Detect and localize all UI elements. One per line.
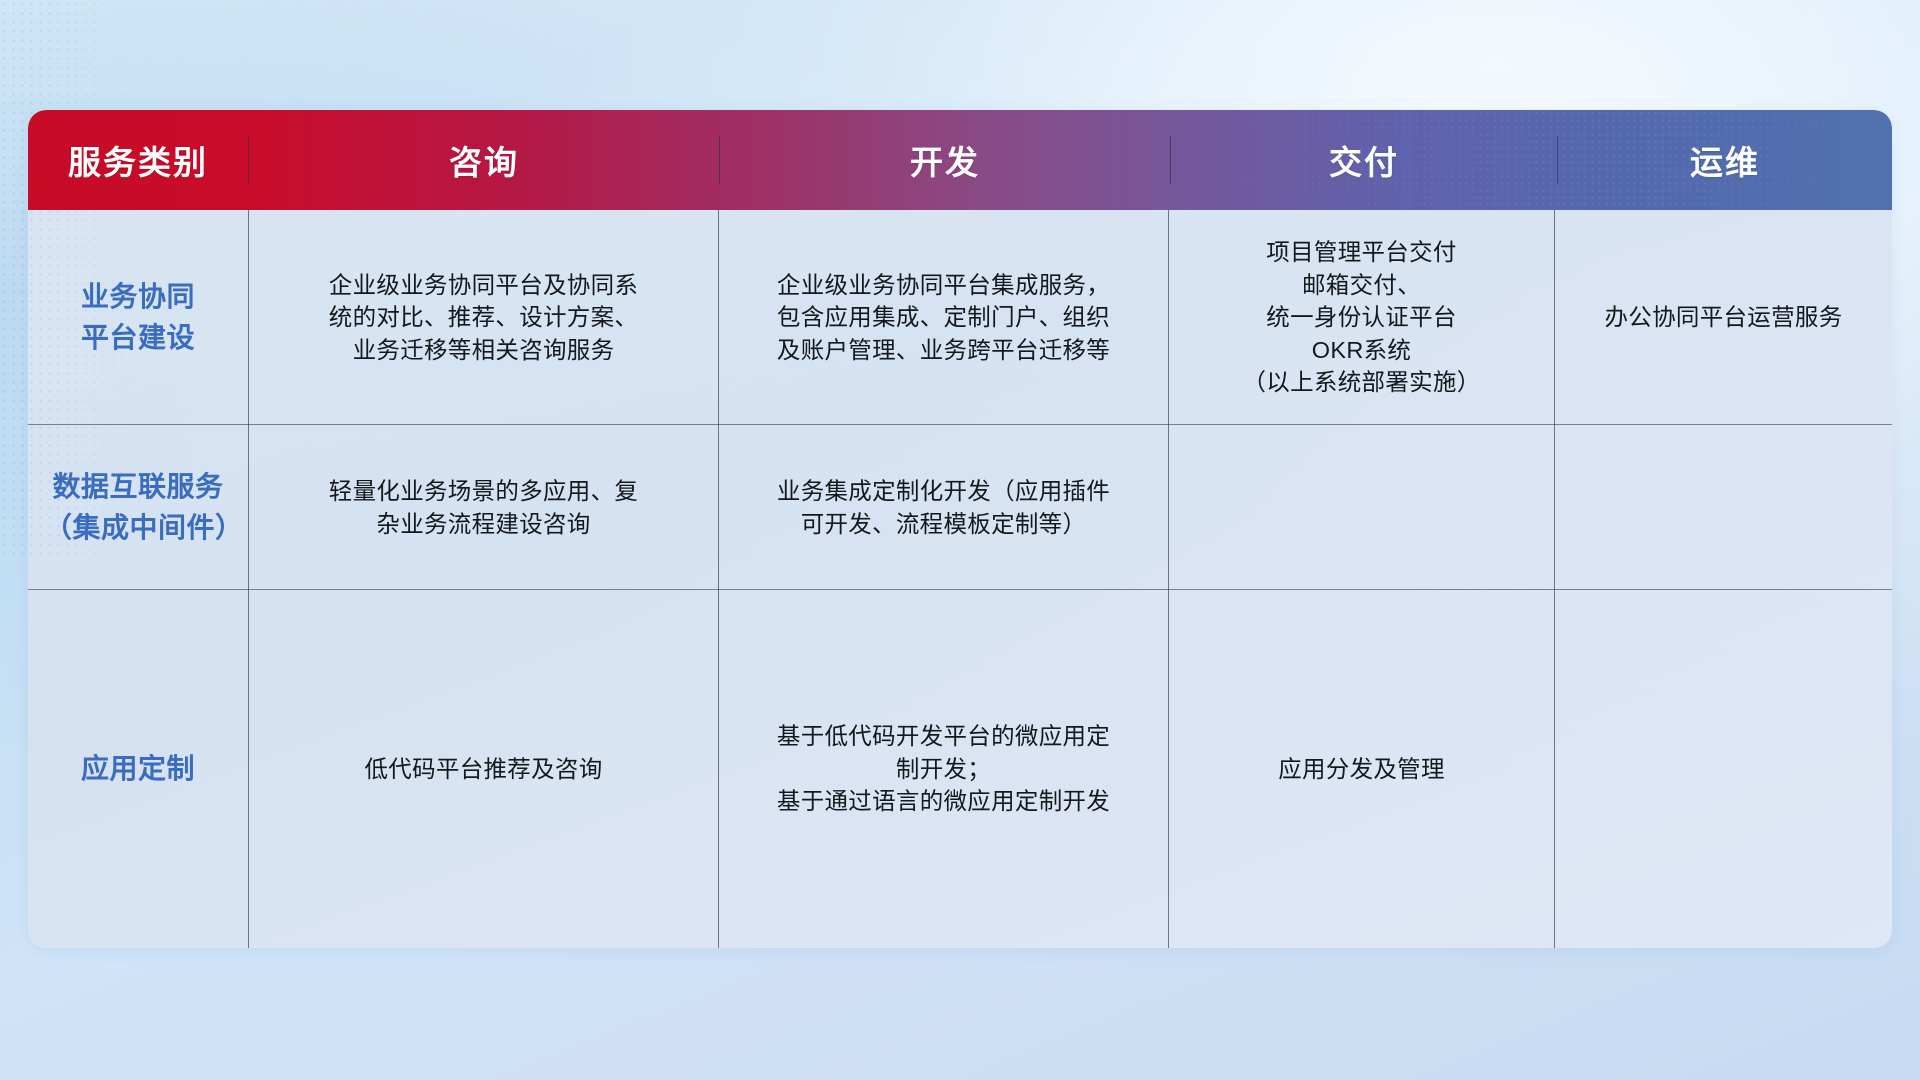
cell-row2-development: 业务集成定制化开发（应用插件 可开发、流程模板定制等） <box>718 425 1168 590</box>
cell-row1-delivery: 项目管理平台交付 邮箱交付、 统一身份认证平台 OKR系统 （以上系统部署实施） <box>1168 210 1554 425</box>
cell-row2-operations <box>1554 425 1892 590</box>
cell-row2-delivery <box>1168 425 1554 590</box>
cell-row3-consulting: 低代码平台推荐及咨询 <box>248 590 718 948</box>
table-header-row: 服务类别 咨询 开发 交付 运维 <box>28 110 1892 210</box>
column-header-consulting: 咨询 <box>248 136 719 184</box>
row-label-data-interconnect: 数据互联服务 （集成中间件） <box>28 425 248 590</box>
table-row: 应用定制 低代码平台推荐及咨询 基于低代码开发平台的微应用定 制开发； 基于通过… <box>28 590 1892 948</box>
column-header-development: 开发 <box>719 136 1170 184</box>
table-row: 数据互联服务 （集成中间件） 轻量化业务场景的多应用、复 杂业务流程建设咨询 业… <box>28 425 1892 590</box>
cell-row1-development: 企业级业务协同平台集成服务， 包含应用集成、定制门户、组织 及账户管理、业务跨平… <box>718 210 1168 425</box>
cell-row3-delivery: 应用分发及管理 <box>1168 590 1554 948</box>
table-row: 业务协同 平台建设 企业级业务协同平台及协同系 统的对比、推荐、设计方案、 业务… <box>28 210 1892 425</box>
column-header-delivery: 交付 <box>1170 136 1557 184</box>
cell-row2-consulting: 轻量化业务场景的多应用、复 杂业务流程建设咨询 <box>248 425 718 590</box>
service-matrix-table: 服务类别 咨询 开发 交付 运维 业务协同 平台建设 企业级业务协同平台及协同系… <box>28 110 1892 948</box>
row-label-business-collaboration: 业务协同 平台建设 <box>28 210 248 425</box>
cell-row3-development: 基于低代码开发平台的微应用定 制开发； 基于通过语言的微应用定制开发 <box>718 590 1168 948</box>
row-label-app-customization: 应用定制 <box>28 590 248 948</box>
column-header-operations: 运维 <box>1557 136 1892 184</box>
table-body: 业务协同 平台建设 企业级业务协同平台及协同系 统的对比、推荐、设计方案、 业务… <box>28 210 1892 948</box>
cell-row3-operations <box>1554 590 1892 948</box>
cell-row1-consulting: 企业级业务协同平台及协同系 统的对比、推荐、设计方案、 业务迁移等相关咨询服务 <box>248 210 718 425</box>
column-header-category: 服务类别 <box>28 136 248 184</box>
cell-row1-operations: 办公协同平台运营服务 <box>1554 210 1892 425</box>
slide-canvas: 服务类别 咨询 开发 交付 运维 业务协同 平台建设 企业级业务协同平台及协同系… <box>0 0 1920 1080</box>
